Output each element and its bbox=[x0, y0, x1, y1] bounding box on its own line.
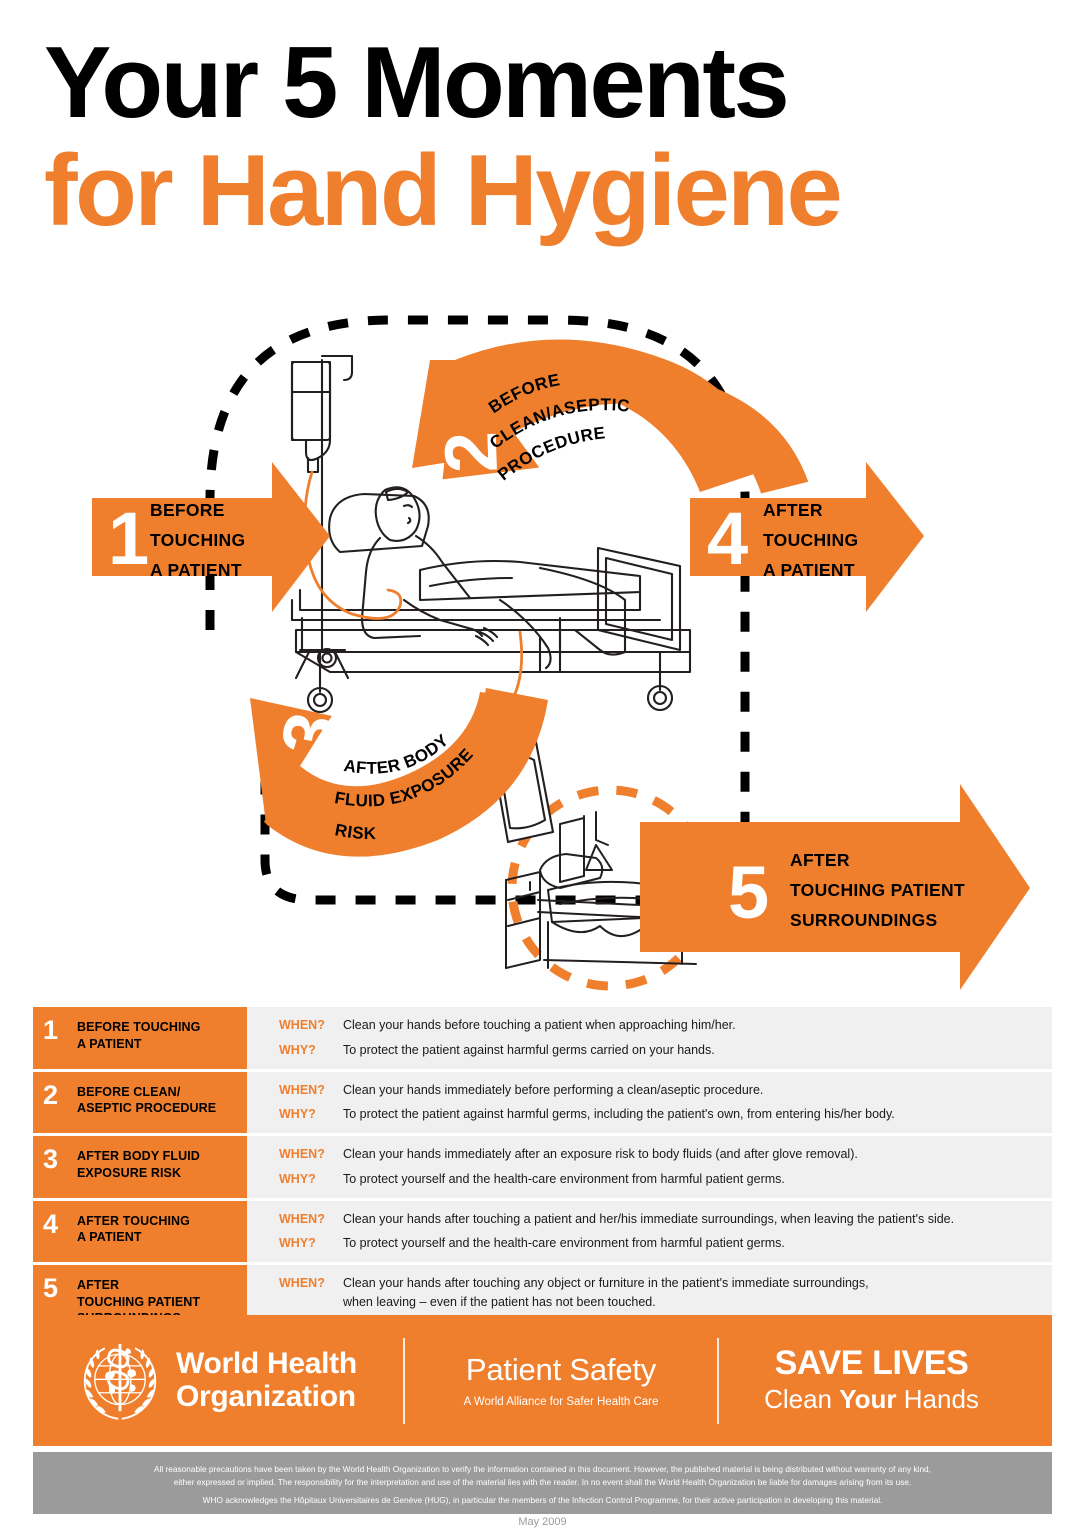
moment-4-arrow: 4 AFTER TOUCHING A PATIENT bbox=[690, 462, 924, 612]
when-text-5: Clean your hands after touching any obje… bbox=[343, 1274, 869, 1312]
moment-4-label-line3: A PATIENT bbox=[763, 560, 855, 580]
row-number-4: 4 bbox=[43, 1210, 77, 1238]
when-text-5-line2: when leaving – even if the patient has n… bbox=[343, 1293, 869, 1312]
save-lives-sub-bold: Your bbox=[839, 1384, 896, 1414]
moment-5-label-line2: TOUCHING PATIENT bbox=[790, 880, 965, 900]
when-label-1: WHEN? bbox=[247, 1016, 343, 1035]
save-lives-sub-pre: Clean bbox=[764, 1384, 839, 1414]
when-label-2: WHEN? bbox=[247, 1081, 343, 1100]
why-label-1: WHY? bbox=[247, 1041, 343, 1060]
row-name-1-line1: BEFORE TOUCHING bbox=[77, 1020, 201, 1034]
moment-1-label-line1: BEFORE bbox=[150, 500, 225, 520]
moment-4-label-line1: AFTER bbox=[763, 500, 823, 520]
row-name-4-line1: AFTER TOUCHING bbox=[77, 1214, 190, 1228]
who-name-line2: Organization bbox=[176, 1380, 356, 1413]
table-row: 1 BEFORE TOUCHING A PATIENT WHEN? Clean … bbox=[33, 1007, 1052, 1069]
publication-date: May 2009 bbox=[0, 1516, 1085, 1528]
disclaimer-line-2: either expressed or implied. The respons… bbox=[71, 1476, 1014, 1489]
when-label-4: WHEN? bbox=[247, 1210, 343, 1229]
row-name-1-line2: A PATIENT bbox=[77, 1037, 142, 1051]
moment-1-number: 1 bbox=[108, 497, 149, 580]
row-name-1: BEFORE TOUCHING A PATIENT bbox=[77, 1016, 201, 1052]
moment-5-label-line3: SURROUNDINGS bbox=[790, 910, 938, 930]
moments-table: 1 BEFORE TOUCHING A PATIENT WHEN? Clean … bbox=[33, 1007, 1052, 1348]
who-name: World Health Organization bbox=[176, 1348, 357, 1413]
moment-4-number: 4 bbox=[707, 497, 748, 580]
moment-5-number: 5 bbox=[728, 851, 769, 934]
patient-safety-subtitle: A World Alliance for Safer Health Care bbox=[405, 1396, 717, 1408]
disclaimer-line-1: All reasonable precautions have been tak… bbox=[71, 1463, 1014, 1476]
why-text-1: To protect the patient against harmful g… bbox=[343, 1041, 715, 1060]
when-text-2: Clean your hands immediately before perf… bbox=[343, 1081, 763, 1100]
table-row-detail-2: WHEN? Clean your hands immediately befor… bbox=[247, 1072, 1052, 1134]
when-label-5: WHEN? bbox=[247, 1274, 343, 1293]
row-name-2-line2: ASEPTIC PROCEDURE bbox=[77, 1101, 216, 1115]
five-moments-diagram: 1 BEFORE TOUCHING A PATIENT 2 BEFORE CLE… bbox=[0, 300, 1085, 1000]
save-lives-title: SAVE LIVES bbox=[719, 1346, 1024, 1382]
why-text-2: To protect the patient against harmful g… bbox=[343, 1105, 895, 1124]
table-row-detail-4: WHEN? Clean your hands after touching a … bbox=[247, 1201, 1052, 1263]
save-lives-sub-post: Hands bbox=[897, 1384, 979, 1414]
title-line-1: Your 5 Moments bbox=[44, 34, 1044, 133]
row-name-5-line1: AFTER bbox=[77, 1278, 119, 1292]
moment-1-label-line2: TOUCHING bbox=[150, 530, 245, 550]
patient-safety-block: Patient Safety A World Alliance for Safe… bbox=[405, 1353, 717, 1408]
poster-root: Your 5 Moments for Hand Hygiene bbox=[0, 0, 1085, 1536]
row-number-2: 2 bbox=[43, 1081, 77, 1109]
row-name-3-line2: EXPOSURE RISK bbox=[77, 1166, 181, 1180]
row-name-4-line2: A PATIENT bbox=[77, 1230, 142, 1244]
when-text-1: Clean your hands before touching a patie… bbox=[343, 1016, 736, 1035]
moment-3-arrow: 3 AFTER BODY FLUID EXPOSURE RISK bbox=[250, 688, 548, 857]
who-logo-group: World Health Organization bbox=[33, 1339, 403, 1423]
moment-5-arrow: 5 AFTER TOUCHING PATIENT SURROUNDINGS bbox=[640, 784, 1030, 990]
page-title: Your 5 Moments for Hand Hygiene bbox=[44, 34, 1044, 242]
row-name-3: AFTER BODY FLUID EXPOSURE RISK bbox=[77, 1145, 200, 1181]
table-row-detail-1: WHEN? Clean your hands before touching a… bbox=[247, 1007, 1052, 1069]
why-text-3: To protect yourself and the health-care … bbox=[343, 1170, 785, 1189]
table-row-label-4: 4 AFTER TOUCHING A PATIENT bbox=[33, 1201, 247, 1263]
row-number-3: 3 bbox=[43, 1145, 77, 1173]
table-row-label-3: 3 AFTER BODY FLUID EXPOSURE RISK bbox=[33, 1136, 247, 1198]
why-text-4: To protect yourself and the health-care … bbox=[343, 1234, 785, 1253]
patient-safety-title: Patient Safety bbox=[405, 1353, 717, 1387]
when-text-4: Clean your hands after touching a patien… bbox=[343, 1210, 954, 1229]
row-name-5-line2: TOUCHING PATIENT bbox=[77, 1295, 200, 1309]
save-lives-block: SAVE LIVES Clean Your Hands bbox=[719, 1346, 1052, 1416]
when-text-3: Clean your hands immediately after an ex… bbox=[343, 1145, 858, 1164]
moment-1-label-line3: A PATIENT bbox=[150, 560, 242, 580]
table-row: 4 AFTER TOUCHING A PATIENT WHEN? Clean y… bbox=[33, 1201, 1052, 1263]
disclaimer-block: All reasonable precautions have been tak… bbox=[33, 1452, 1052, 1514]
when-text-5-line1: Clean your hands after touching any obje… bbox=[343, 1276, 869, 1290]
title-line-2: for Hand Hygiene bbox=[44, 141, 1044, 242]
row-name-2: BEFORE CLEAN/ ASEPTIC PROCEDURE bbox=[77, 1081, 216, 1117]
row-name-2-line1: BEFORE CLEAN/ bbox=[77, 1085, 180, 1099]
moment-5-label-line1: AFTER bbox=[790, 850, 850, 870]
table-row: 2 BEFORE CLEAN/ ASEPTIC PROCEDURE WHEN? … bbox=[33, 1072, 1052, 1134]
row-name-4: AFTER TOUCHING A PATIENT bbox=[77, 1210, 190, 1246]
disclaimer-line-3: WHO acknowledges the Hôpitaux Universita… bbox=[71, 1494, 1014, 1507]
save-lives-subtitle: Clean Your Hands bbox=[719, 1385, 1024, 1415]
why-label-4: WHY? bbox=[247, 1234, 343, 1253]
why-label-3: WHY? bbox=[247, 1170, 343, 1189]
moment-2-arrow: 2 BEFORE CLEAN/ASEPTIC PROCEDURE bbox=[412, 339, 808, 493]
row-number-1: 1 bbox=[43, 1016, 77, 1044]
why-label-2: WHY? bbox=[247, 1105, 343, 1124]
row-name-3-line1: AFTER BODY FLUID bbox=[77, 1149, 200, 1163]
row-number-5: 5 bbox=[43, 1274, 77, 1302]
who-name-line1: World Health bbox=[176, 1347, 357, 1380]
table-row-label-2: 2 BEFORE CLEAN/ ASEPTIC PROCEDURE bbox=[33, 1072, 247, 1134]
moment-4-label-line2: TOUCHING bbox=[763, 530, 858, 550]
table-row-detail-3: WHEN? Clean your hands immediately after… bbox=[247, 1136, 1052, 1198]
who-emblem-icon bbox=[78, 1339, 162, 1423]
when-label-3: WHEN? bbox=[247, 1145, 343, 1164]
table-row: 3 AFTER BODY FLUID EXPOSURE RISK WHEN? C… bbox=[33, 1136, 1052, 1198]
table-row-label-1: 1 BEFORE TOUCHING A PATIENT bbox=[33, 1007, 247, 1069]
who-footer-bar: World Health Organization Patient Safety… bbox=[33, 1315, 1052, 1446]
